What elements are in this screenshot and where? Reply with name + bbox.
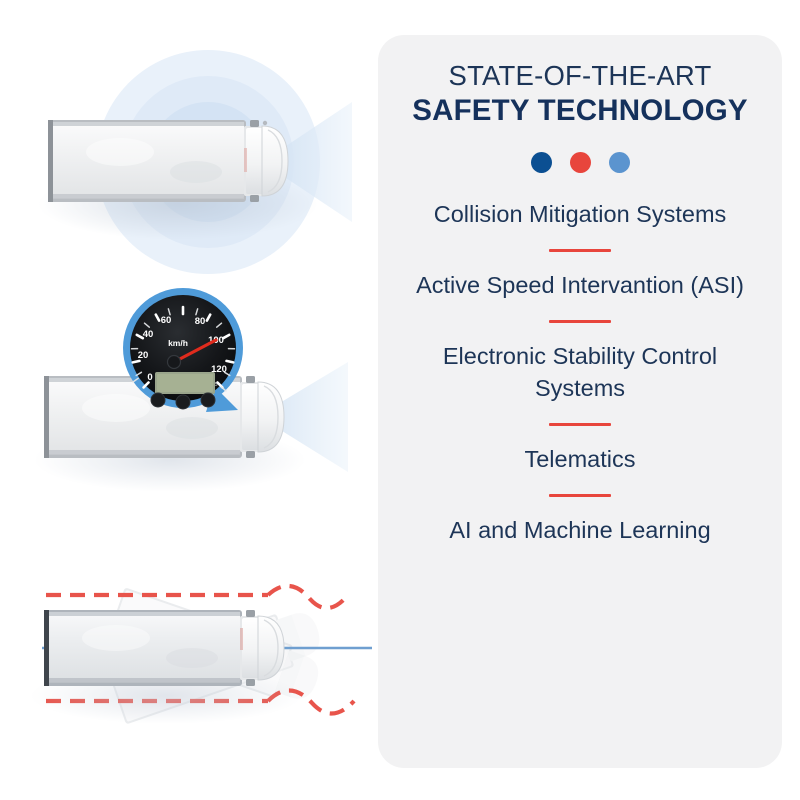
dot-dark-blue — [531, 152, 552, 173]
gauge-tick-20: 20 — [138, 350, 149, 361]
illustration-column: 0 20 40 60 80 100 120 125 km/h — [0, 0, 378, 800]
feature-item-active-speed-intervention: Active Speed Intervantion (ASI) — [400, 270, 760, 301]
page-title: STATE-OF-THE-ART SAFETY TECHNOLOGY — [400, 61, 760, 127]
gauge-tick-40: 40 — [143, 329, 154, 340]
gauge-lcd-display — [155, 372, 215, 394]
gauge-tick-80: 80 — [195, 316, 206, 327]
illustration-active-speed-intervention: 0 20 40 60 80 100 120 125 km/h — [0, 288, 378, 508]
feature-separator — [549, 320, 611, 323]
color-dot-group — [400, 152, 760, 173]
feature-item-collision-mitigation: Collision Mitigation Systems — [400, 199, 760, 230]
truck-trailer — [44, 610, 242, 686]
gauge-unit-label: km/h — [168, 338, 188, 348]
feature-separator — [549, 249, 611, 252]
feature-separator — [549, 423, 611, 426]
safety-technology-panel: STATE-OF-THE-ART SAFETY TECHNOLOGY Colli… — [378, 35, 782, 768]
feature-item-telematics: Telematics — [400, 444, 760, 475]
feature-item-ai-machine-learning: AI and Machine Learning — [400, 515, 760, 546]
dot-light-blue — [609, 152, 630, 173]
dot-red — [570, 152, 591, 173]
page-title-line2: SAFETY TECHNOLOGY — [400, 94, 760, 127]
page-title-line1: STATE-OF-THE-ART — [400, 61, 760, 92]
illustration-electronic-stability-control — [0, 548, 378, 760]
safety-technology-infographic: 0 20 40 60 80 100 120 125 km/h — [0, 0, 800, 800]
swerve-path-top — [268, 586, 348, 608]
feature-list: Collision Mitigation Systems Active Spee… — [400, 199, 760, 547]
feature-separator — [549, 494, 611, 497]
gauge-knobs — [151, 393, 215, 409]
gauge-tick-60: 60 — [161, 315, 172, 326]
illustration-collision-mitigation — [0, 48, 378, 276]
truck-trailer — [48, 120, 246, 202]
feature-item-electronic-stability-control: Electronic Stability Control Systems — [400, 341, 760, 404]
gauge-tick-0: 0 — [147, 372, 152, 383]
